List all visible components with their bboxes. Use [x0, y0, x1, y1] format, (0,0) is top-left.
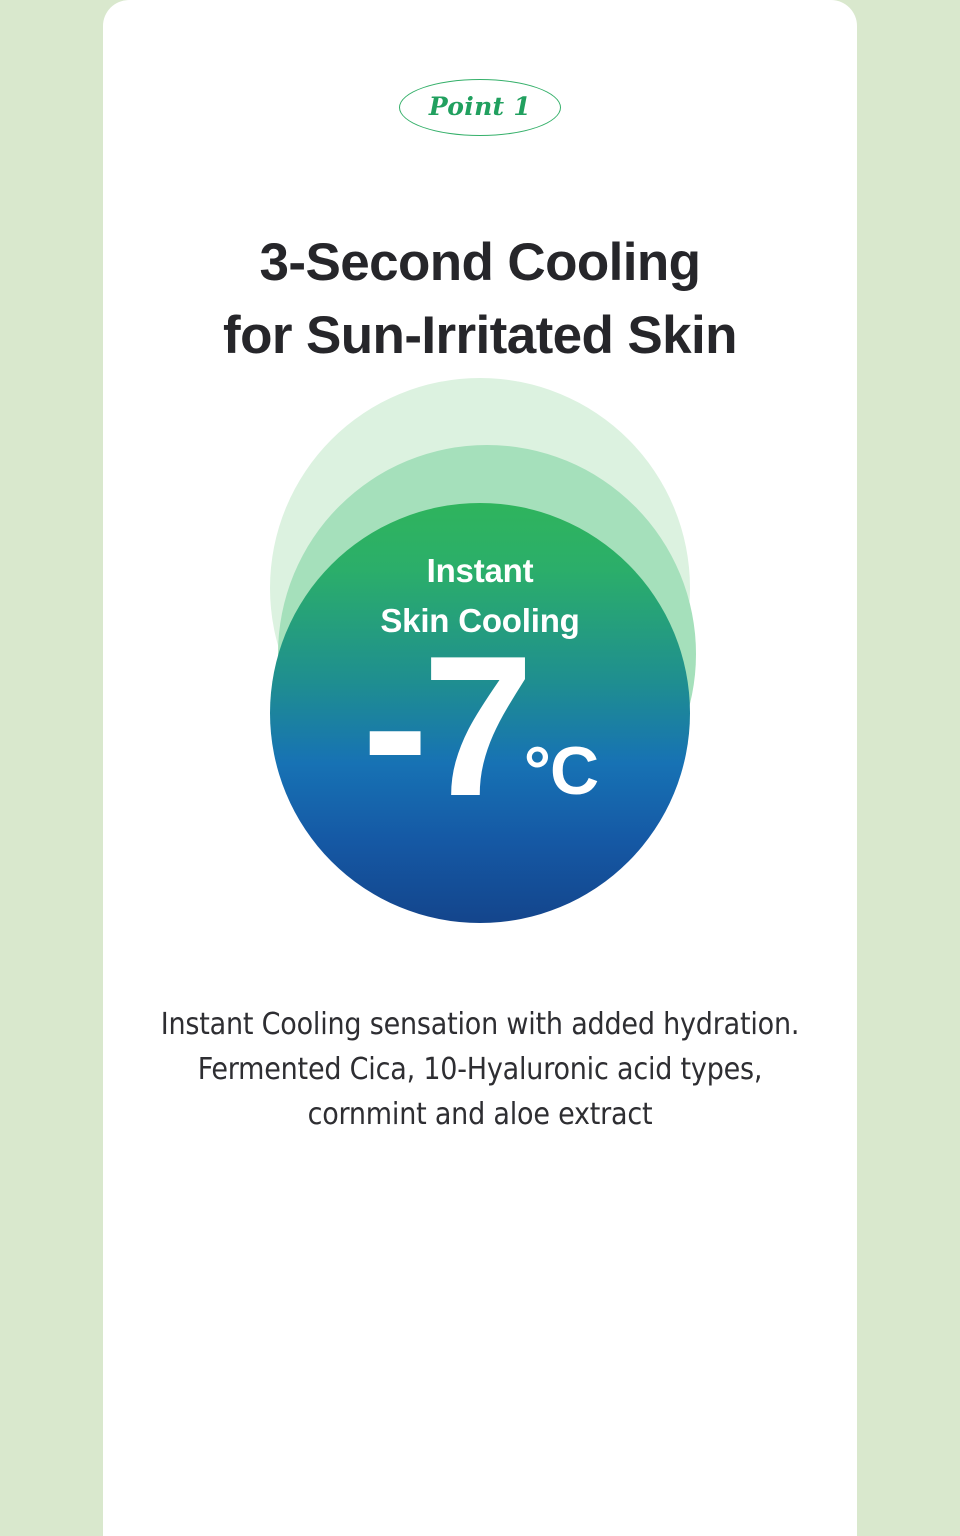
temperature-readout: -7 °C [270, 635, 690, 819]
point-badge: Point 1 [399, 79, 561, 136]
page-root: Point 1 3-Second Cooling for Sun-Irritat… [0, 0, 960, 1536]
temperature-unit: °C [524, 737, 598, 819]
page-title: 3-Second Cooling for Sun-Irritated Skin [103, 226, 857, 372]
cooling-circle-graphic: Instant Skin Cooling -7 °C [103, 378, 857, 923]
page-title-line-2: for Sun-Irritated Skin [103, 299, 857, 372]
feature-description-line-3: cornmint and aloe extract [103, 1092, 857, 1137]
feature-description-line-1: Instant Cooling sensation with added hyd… [103, 1002, 857, 1047]
product-feature-card: Point 1 3-Second Cooling for Sun-Irritat… [103, 0, 857, 1536]
feature-description: Instant Cooling sensation with added hyd… [103, 1002, 857, 1137]
feature-description-line-2: Fermented Cica, 10-Hyaluronic acid types… [103, 1047, 857, 1092]
page-title-line-1: 3-Second Cooling [103, 226, 857, 299]
temperature-value: -7 [362, 635, 528, 819]
cooling-label-line-1: Instant [270, 546, 690, 596]
point-badge-label: Point 1 [429, 94, 531, 121]
circle-text-layer: Instant Skin Cooling -7 °C [270, 503, 690, 923]
point-badge-container: Point 1 [103, 79, 857, 136]
